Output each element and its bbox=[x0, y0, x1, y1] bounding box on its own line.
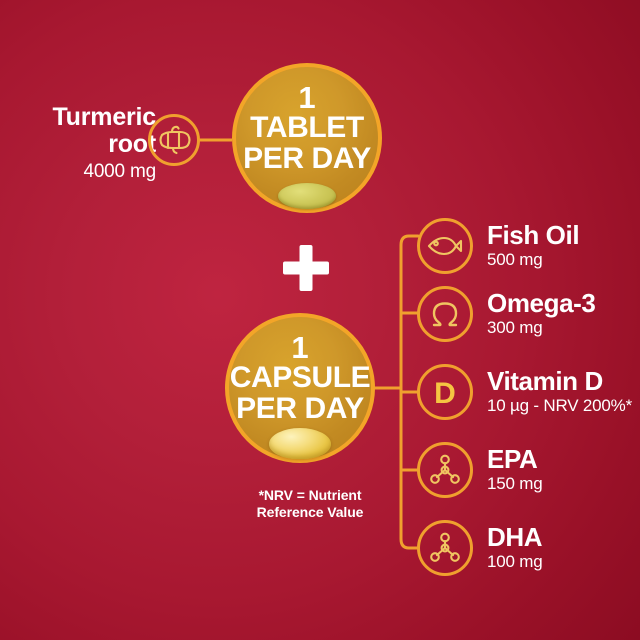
tablet-unit-label: TABLET bbox=[250, 113, 364, 144]
nutrient-text-fish-oil: Fish Oil 500 mg bbox=[487, 222, 579, 270]
capsule-unit-label: CAPSULE bbox=[230, 363, 371, 394]
fish-icon-circle bbox=[417, 218, 473, 274]
nutrient-row-vitamin-d: D Vitamin D 10 µg - NRV 200%* bbox=[417, 364, 632, 420]
softgel-capsule-image bbox=[269, 428, 331, 459]
turmeric-name-line1: Turmeric bbox=[52, 103, 156, 131]
nutrient-name-vitamin-d: Vitamin D bbox=[487, 368, 632, 395]
omega-icon bbox=[425, 294, 465, 334]
nutrient-dose-vitamin-d: 10 µg - NRV 200%* bbox=[487, 396, 632, 416]
nutrient-row-fish-oil: Fish Oil 500 mg bbox=[417, 218, 579, 274]
nutrient-text-epa: EPA 150 mg bbox=[487, 446, 543, 494]
turmeric-dose: 4000 mg bbox=[8, 161, 156, 183]
turmeric-root-icon bbox=[151, 117, 197, 163]
turmeric-label-block: Turmeric root 4000 mg bbox=[8, 104, 156, 183]
nutrient-dose-dha: 100 mg bbox=[487, 552, 543, 572]
molecule-icon bbox=[425, 528, 465, 568]
turmeric-root-icon-circle bbox=[148, 114, 200, 166]
turmeric-name: Turmeric root bbox=[8, 104, 156, 158]
nutrient-name-dha: DHA bbox=[487, 524, 543, 551]
tablet-pill-image bbox=[278, 183, 336, 209]
tablet-count: 1 bbox=[298, 82, 315, 113]
nrv-footnote: *NRV = Nutrient Reference Value bbox=[215, 487, 405, 521]
nutrient-row-dha: DHA 100 mg bbox=[417, 520, 543, 576]
omega-icon-circle bbox=[417, 286, 473, 342]
nutrient-dose-fish-oil: 500 mg bbox=[487, 250, 579, 270]
molecule-icon bbox=[425, 450, 465, 490]
supplement-dosage-infographic: Turmeric root 4000 mg 1 TABLET PER DAY 1… bbox=[0, 0, 640, 640]
svg-text:D: D bbox=[434, 377, 456, 410]
nrv-footnote-line1: *NRV = Nutrient bbox=[259, 487, 362, 503]
nutrient-row-omega-3: Omega-3 300 mg bbox=[417, 286, 595, 342]
fish-icon bbox=[425, 226, 465, 266]
capsule-per-day-label: PER DAY bbox=[236, 394, 364, 425]
tablet-per-day-circle: 1 TABLET PER DAY bbox=[232, 63, 382, 213]
tablet-per-day-label: PER DAY bbox=[243, 144, 371, 175]
letter-d-icon: D bbox=[425, 372, 465, 412]
nutrient-text-dha: DHA 100 mg bbox=[487, 524, 543, 572]
molecule-icon-circle-epa bbox=[417, 442, 473, 498]
molecule-icon-circle-dha bbox=[417, 520, 473, 576]
letter-d-icon-circle: D bbox=[417, 364, 473, 420]
plus-icon bbox=[283, 245, 329, 291]
nutrient-row-epa: EPA 150 mg bbox=[417, 442, 543, 498]
nrv-footnote-line2: Reference Value bbox=[257, 504, 364, 520]
nutrient-name-fish-oil: Fish Oil bbox=[487, 222, 579, 249]
nutrient-name-epa: EPA bbox=[487, 446, 543, 473]
nutrient-name-omega-3: Omega-3 bbox=[487, 290, 595, 317]
nutrient-dose-epa: 150 mg bbox=[487, 474, 543, 494]
nutrient-dose-omega-3: 300 mg bbox=[487, 318, 595, 338]
nutrient-text-omega-3: Omega-3 300 mg bbox=[487, 290, 595, 338]
capsule-count: 1 bbox=[291, 332, 308, 363]
capsule-per-day-circle: 1 CAPSULE PER DAY bbox=[225, 313, 375, 463]
nutrient-text-vitamin-d: Vitamin D 10 µg - NRV 200%* bbox=[487, 368, 632, 416]
